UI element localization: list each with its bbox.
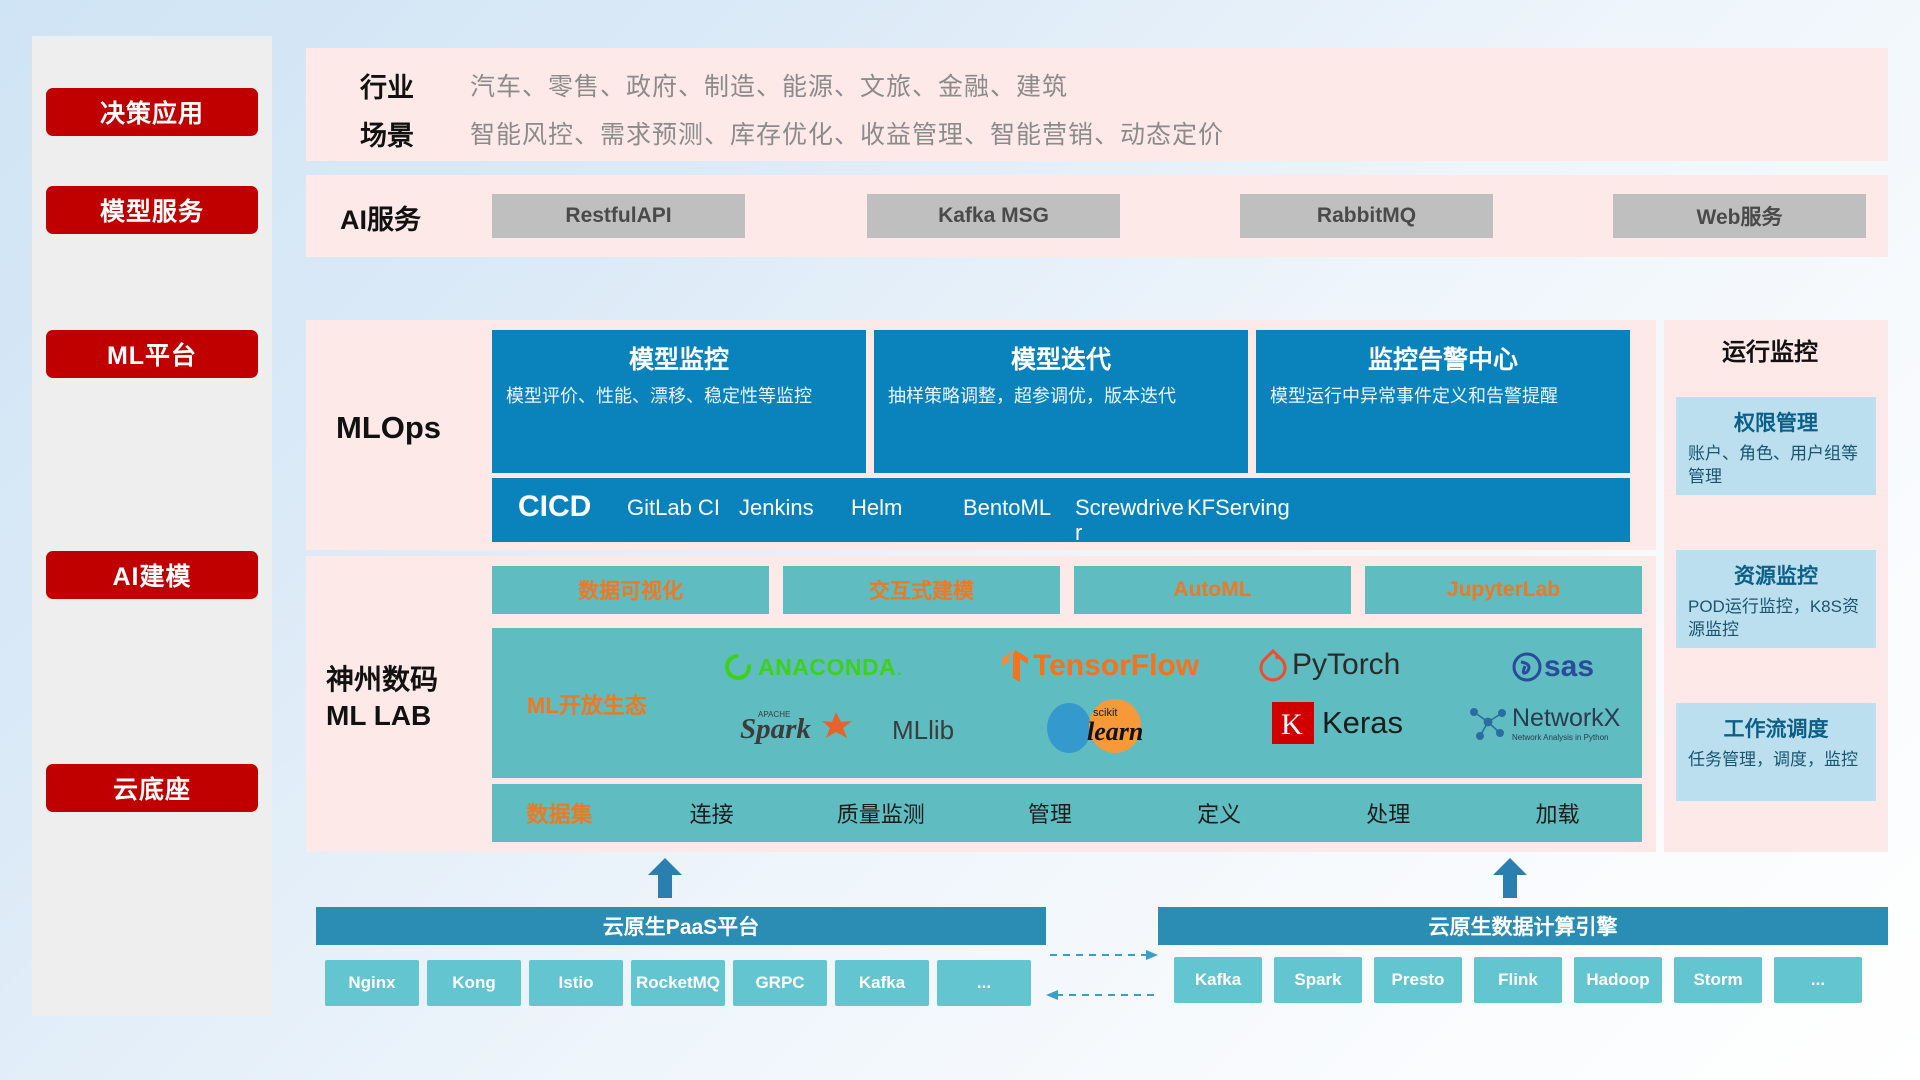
card-desc: 任务管理，调度，监控 [1688,749,1864,772]
spark-mllib-logo: Spark APACHE MLlib [740,708,954,752]
cicd-tool-kfserving[interactable]: KFServing [1187,478,1299,520]
rail-item-model-service[interactable]: 模型服务 [46,186,258,234]
dataset-cell-connect[interactable]: 连接 [627,797,796,829]
networkx-label: NetworkX [1512,704,1620,733]
tensorflow-logo: TensorFlow [1000,648,1199,684]
modeling-tab-data-visualization[interactable]: 数据可视化 [492,566,769,614]
card-title: 权限管理 [1688,407,1864,437]
keras-label: Keras [1322,705,1403,741]
ai-service-chip-restfulapi[interactable]: RestfulAPI [492,194,745,238]
cicd-row: CICD GitLab CI Jenkins Helm BentoML Scre… [492,478,1630,542]
ai-service-chip-rabbitmq[interactable]: RabbitMQ [1240,194,1493,238]
paas-platform-bar[interactable]: 云原生PaaS平台 [316,907,1046,945]
card-title: 监控告警中心 [1270,340,1616,376]
card-desc: 账户、角色、用户组等管理 [1688,443,1864,489]
ml-lab-label-line2: ML LAB [326,698,501,734]
modeling-tab-automl[interactable]: AutoML [1074,566,1351,614]
tensorflow-icon [1000,648,1030,684]
compute-chip-kafka[interactable]: Kafka [1174,957,1262,1003]
mlops-card-model-monitor[interactable]: 模型监控 模型评价、性能、漂移、稳定性等监控 [492,330,866,473]
rail-item-cloud-base[interactable]: 云底座 [46,764,258,812]
ml-lab-label: 神州数码 ML LAB [326,660,501,736]
dataset-cell-quality[interactable]: 质量监测 [796,797,965,829]
monitoring-card-permission[interactable]: 权限管理 账户、角色、用户组等管理 [1676,397,1876,495]
rail-item-ai-modeling[interactable]: AI建模 [46,551,258,599]
card-title: 模型迭代 [888,340,1234,376]
paas-chip-grpc[interactable]: GRPC [733,960,827,1006]
monitoring-card-resource[interactable]: 资源监控 POD运行监控，K8S资源监控 [1676,550,1876,648]
bidirectional-connector-icon [1046,945,1158,1005]
scenario-value: 智能风控、需求预测、库存优化、收益管理、智能营销、动态定价 [470,115,1224,151]
monitoring-title: 运行监控 [1722,332,1818,367]
networkx-tagline: Network Analysis in Python [1512,733,1620,742]
mlops-card-alert-center[interactable]: 监控告警中心 模型运行中异常事件定义和告警提醒 [1256,330,1630,473]
dataset-row: 数据集 连接 质量监测 管理 定义 处理 加载 [492,784,1642,842]
anaconda-label: ANACONDA [758,654,896,681]
paas-chip-nginx[interactable]: Nginx [325,960,419,1006]
layer-label-rail: 决策应用 模型服务 ML平台 AI建模 云底座 [32,36,272,1016]
cicd-tool-helm[interactable]: Helm [851,478,963,520]
dataset-cell-manage[interactable]: 管理 [965,797,1134,829]
keras-icon: K [1272,702,1314,744]
compute-chip-hadoop[interactable]: Hadoop [1574,957,1662,1003]
cicd-tool-jenkins[interactable]: Jenkins [739,478,851,520]
up-arrow-compute-icon [1493,858,1527,898]
sas-label: sas [1544,650,1594,684]
paas-chip-rocketmq[interactable]: RocketMQ [631,960,725,1006]
rail-item-ml-platform[interactable]: ML平台 [46,330,258,378]
paas-chip-kong[interactable]: Kong [427,960,521,1006]
svg-text:APACHE: APACHE [758,710,790,719]
anaconda-icon [723,652,753,682]
compute-chip-presto[interactable]: Presto [1374,957,1462,1003]
pytorch-icon [1258,648,1288,682]
cicd-tool-screwdriver[interactable]: Screwdriver [1075,478,1187,542]
paas-chip-istio[interactable]: Istio [529,960,623,1006]
ai-service-chip-kafka-msg[interactable]: Kafka MSG [867,194,1120,238]
ml-ecosystem-label: ML开放生态 [527,688,647,720]
card-desc: POD运行监控，K8S资源监控 [1688,596,1864,642]
card-title: 模型监控 [506,340,852,376]
modeling-tab-interactive-modeling[interactable]: 交互式建模 [783,566,1060,614]
dataset-label: 数据集 [492,797,627,829]
paas-chip-more[interactable]: ... [937,960,1031,1006]
industry-row: 行业 汽车、零售、政府、制造、能源、文旅、金融、建筑 [360,62,1068,108]
architecture-diagram: 决策应用 模型服务 ML平台 AI建模 云底座 行业 汽车、零售、政府、制造、能… [0,0,1920,1080]
anaconda-logo: ANACONDA . [723,652,903,682]
monitoring-card-workflow[interactable]: 工作流调度 任务管理，调度，监控 [1676,703,1876,801]
up-arrow-paas-icon [648,858,682,898]
scikit-learn-icon: scikit learn [1043,698,1173,754]
cicd-tool-gitlab-ci[interactable]: GitLab CI [627,478,739,520]
ml-lab-label-line1: 神州数码 [326,662,501,698]
card-title: 资源监控 [1688,560,1864,590]
modeling-tab-jupyterlab[interactable]: JupyterLab [1365,566,1642,614]
compute-chip-more[interactable]: ... [1774,957,1862,1003]
sas-icon [1512,652,1542,682]
compute-chip-storm[interactable]: Storm [1674,957,1762,1003]
networkx-logo: NetworkX Network Analysis in Python [1466,702,1620,744]
keras-logo: K Keras [1272,702,1403,744]
rail-item-decision-app[interactable]: 决策应用 [46,88,258,136]
dataset-cell-process[interactable]: 处理 [1304,797,1473,829]
compute-engine-bar[interactable]: 云原生数据计算引擎 [1158,907,1888,945]
pytorch-label: PyTorch [1292,648,1400,682]
tensorflow-label: TensorFlow [1033,649,1199,683]
networkx-icon [1466,702,1508,744]
industry-value: 汽车、零售、政府、制造、能源、文旅、金融、建筑 [470,67,1068,103]
svg-text:learn: learn [1087,717,1143,746]
card-desc: 模型运行中异常事件定义和告警提醒 [1270,384,1616,408]
cicd-label: CICD [492,478,627,524]
compute-chip-flink[interactable]: Flink [1474,957,1562,1003]
ai-service-chip-web-service[interactable]: Web服务 [1613,194,1866,238]
pytorch-logo: PyTorch [1258,648,1400,682]
mlops-label: MLOps [336,406,496,450]
card-title: 工作流调度 [1688,713,1864,743]
mllib-label: MLlib [892,715,954,746]
scikit-learn-logo: scikit learn [1043,698,1173,754]
paas-chip-kafka[interactable]: Kafka [835,960,929,1006]
cicd-tool-bentoml[interactable]: BentoML [963,478,1075,520]
industry-label: 行业 [360,66,470,105]
spark-icon: Spark APACHE [740,708,890,752]
sas-logo: sas [1512,650,1594,684]
ai-service-label: AI服务 [340,198,480,236]
card-desc: 模型评价、性能、漂移、稳定性等监控 [506,384,852,408]
compute-chip-spark[interactable]: Spark [1274,957,1362,1003]
mlops-card-model-iteration[interactable]: 模型迭代 抽样策略调整，超参调优，版本迭代 [874,330,1248,473]
scenario-label: 场景 [360,114,470,153]
dataset-cell-define[interactable]: 定义 [1135,797,1304,829]
svg-text:K: K [1281,708,1303,741]
card-desc: 抽样策略调整，超参调优，版本迭代 [888,384,1234,408]
dataset-cell-load[interactable]: 加载 [1473,797,1642,829]
anaconda-dot: . [896,654,902,681]
scenario-row: 场景 智能风控、需求预测、库存优化、收益管理、智能营销、动态定价 [360,110,1224,156]
